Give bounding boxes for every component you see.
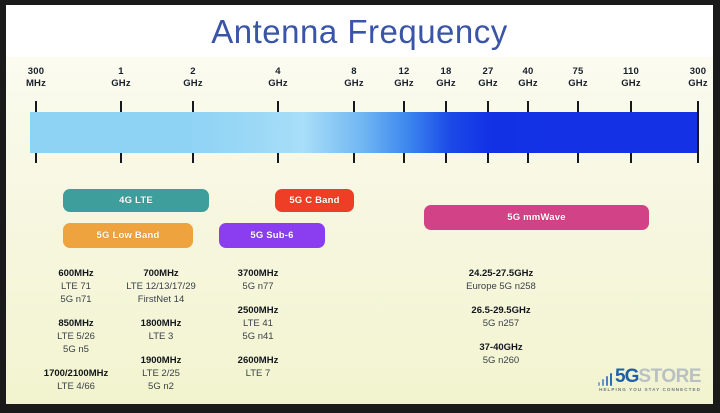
axis-tick-value: 1 xyxy=(111,66,131,78)
band-name-label: FirstNet 14 xyxy=(106,293,216,306)
band-pill-label: 5G C Band xyxy=(289,195,339,206)
band-detail-entry: 26.5-29.5GHz5G n257 xyxy=(426,304,576,330)
axis-tick-value: 2 xyxy=(183,66,203,78)
axis-tick-unit: GHz xyxy=(111,78,131,90)
band-detail-column: 24.25-27.5GHzEurope 5G n25826.5-29.5GHz5… xyxy=(426,267,576,378)
band-pill[interactable]: 5G Sub-6 xyxy=(219,223,325,248)
logo-lockup: 5G STORE xyxy=(598,366,701,386)
logo-tagline: HELPING YOU STAY CONNECTED xyxy=(598,387,701,392)
axis-tick-unit: GHz xyxy=(183,78,203,90)
brand-logo: 5G STORE HELPING YOU STAY CONNECTED xyxy=(598,366,701,392)
axis-tick-unit: GHz xyxy=(268,78,288,90)
band-pill-label: 4G LTE xyxy=(119,195,153,206)
band-frequency-label: 37-40GHz xyxy=(426,341,576,354)
band-name-label: LTE 12/13/17/29 xyxy=(106,280,216,293)
axis-tick-unit: GHz xyxy=(621,78,641,90)
axis-tick-unit: GHz xyxy=(478,78,498,90)
band-name-label: 5G n2 xyxy=(106,380,216,393)
axis-tick-label: 4GHz xyxy=(268,66,288,89)
axis-tick-value: 4 xyxy=(268,66,288,78)
axis-tick-value: 40 xyxy=(518,66,538,78)
band-pill-label: 5G Low Band xyxy=(97,230,160,241)
signal-bars-icon xyxy=(598,373,613,386)
axis-tick-unit: GHz xyxy=(394,78,414,90)
axis-tick-value: 110 xyxy=(621,66,641,78)
band-frequency-label: 2500MHz xyxy=(213,304,303,317)
band-detail-column: 3700MHz5G n772500MHzLTE 415G n412600MHzL… xyxy=(213,267,303,391)
axis-tick-unit: GHz xyxy=(568,78,588,90)
band-pill[interactable]: 4G LTE xyxy=(63,189,209,212)
axis-tick-label: 110GHz xyxy=(621,66,641,89)
band-detail-entry: 24.25-27.5GHzEurope 5G n258 xyxy=(426,267,576,293)
band-pill[interactable]: 5G mmWave xyxy=(424,205,649,230)
band-name-label: LTE 7 xyxy=(213,367,303,380)
band-name-label: 5G n257 xyxy=(426,317,576,330)
logo-5g-text: 5G xyxy=(615,368,638,386)
band-detail-entry: 37-40GHz5G n260 xyxy=(426,341,576,367)
band-detail-entry: 2600MHzLTE 7 xyxy=(213,354,303,380)
band-detail-entry: 1900MHzLTE 2/255G n2 xyxy=(106,354,216,393)
band-frequency-label: 3700MHz xyxy=(213,267,303,280)
band-detail-entry: 1800MHzLTE 3 xyxy=(106,317,216,343)
band-name-label: Europe 5G n258 xyxy=(426,280,576,293)
band-name-label: 5G n77 xyxy=(213,280,303,293)
band-detail-column: 700MHzLTE 12/13/17/29FirstNet 141800MHzL… xyxy=(106,267,216,404)
axis-tick-label: 300GHz xyxy=(688,66,708,89)
axis-tick-unit: GHz xyxy=(344,78,364,90)
infographic-frame: Antenna Frequency 300MHz1GHz2GHz4GHz8GHz… xyxy=(0,0,720,413)
axis-tick-label: 300MHz xyxy=(26,66,46,89)
band-name-label: 5G n41 xyxy=(213,330,303,343)
axis-tick-value: 300 xyxy=(688,66,708,78)
band-detail-entry: 3700MHz5G n77 xyxy=(213,267,303,293)
band-frequency-label: 2600MHz xyxy=(213,354,303,367)
infographic-sheet: Antenna Frequency 300MHz1GHz2GHz4GHz8GHz… xyxy=(6,5,713,404)
axis-tick-label: 12GHz xyxy=(394,66,414,89)
axis-tick-unit: GHz xyxy=(518,78,538,90)
axis-tick-unit: MHz xyxy=(26,78,46,90)
axis-tick-value: 18 xyxy=(436,66,456,78)
band-detail-entry: 2500MHzLTE 415G n41 xyxy=(213,304,303,343)
axis-tick-label: 75GHz xyxy=(568,66,588,89)
axis-tick-value: 75 xyxy=(568,66,588,78)
logo-store-text: STORE xyxy=(638,368,701,386)
band-pill-label: 5G mmWave xyxy=(507,212,565,223)
band-name-label: 5G n260 xyxy=(426,354,576,367)
band-name-label: LTE 2/25 xyxy=(106,367,216,380)
band-name-label: LTE 3 xyxy=(106,330,216,343)
band-frequency-label: 24.25-27.5GHz xyxy=(426,267,576,280)
axis-tick-label: 40GHz xyxy=(518,66,538,89)
axis-tick-value: 12 xyxy=(394,66,414,78)
band-frequency-label: 700MHz xyxy=(106,267,216,280)
band-frequency-label: 1800MHz xyxy=(106,317,216,330)
axis-tick-label: 1GHz xyxy=(111,66,131,89)
spectrum-gradient-bar xyxy=(30,112,697,153)
axis-tick-label: 2GHz xyxy=(183,66,203,89)
band-frequency-label: 1900MHz xyxy=(106,354,216,367)
axis-tick-label: 27GHz xyxy=(478,66,498,89)
axis-tick-line xyxy=(697,101,699,163)
axis-tick-value: 8 xyxy=(344,66,364,78)
band-pill-label: 5G Sub-6 xyxy=(250,230,293,241)
band-pill[interactable]: 5G C Band xyxy=(275,189,354,212)
band-frequency-label: 26.5-29.5GHz xyxy=(426,304,576,317)
axis-tick-label: 8GHz xyxy=(344,66,364,89)
band-detail-entry: 700MHzLTE 12/13/17/29FirstNet 14 xyxy=(106,267,216,306)
axis-tick-unit: GHz xyxy=(436,78,456,90)
band-name-label: LTE 41 xyxy=(213,317,303,330)
axis-tick-unit: GHz xyxy=(688,78,708,90)
axis-tick-value: 27 xyxy=(478,66,498,78)
axis-tick-value: 300 xyxy=(26,66,46,78)
axis-tick-label: 18GHz xyxy=(436,66,456,89)
band-pill[interactable]: 5G Low Band xyxy=(63,223,193,248)
